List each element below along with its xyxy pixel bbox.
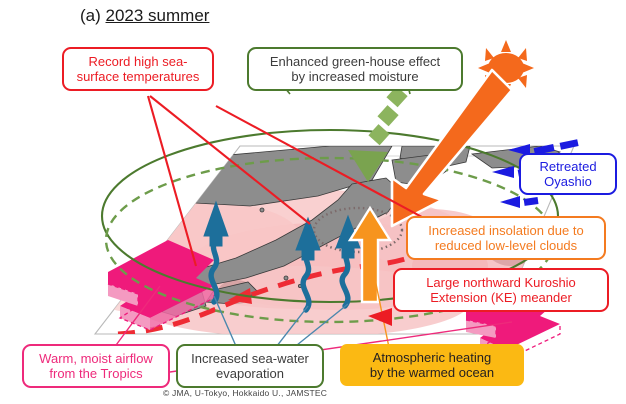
callout-increased-insolation[interactable]: Increased insolation due to reduced low-…: [406, 216, 606, 260]
page-title: (a) 2023 summer: [80, 6, 209, 26]
callout-greenhouse-effect[interactable]: Enhanced green-house effect by increased…: [247, 47, 463, 91]
figure-root: (a) 2023 summer: [0, 0, 626, 404]
panel-label: (a): [80, 6, 101, 25]
callout-atmospheric-heating[interactable]: Atmospheric heating by the warmed ocean: [340, 344, 524, 386]
callout-increased-evaporation[interactable]: Increased sea-water evaporation: [176, 344, 324, 388]
callout-warm-moist-airflow[interactable]: Warm, moist airflow from the Tropics: [22, 344, 170, 388]
callout-retreated-oyashio[interactable]: Retreated Oyashio: [519, 153, 617, 195]
callout-kuroshio-meander[interactable]: Large northward Kuroshio Extension (KE) …: [393, 268, 609, 312]
credit-line: © JMA, U-Tokyo, Hokkaido U., JAMSTEC: [163, 388, 327, 398]
callout-record-high-sst[interactable]: Record high sea- surface temperatures: [62, 47, 214, 91]
panel-title-text: 2023 summer: [106, 6, 210, 25]
